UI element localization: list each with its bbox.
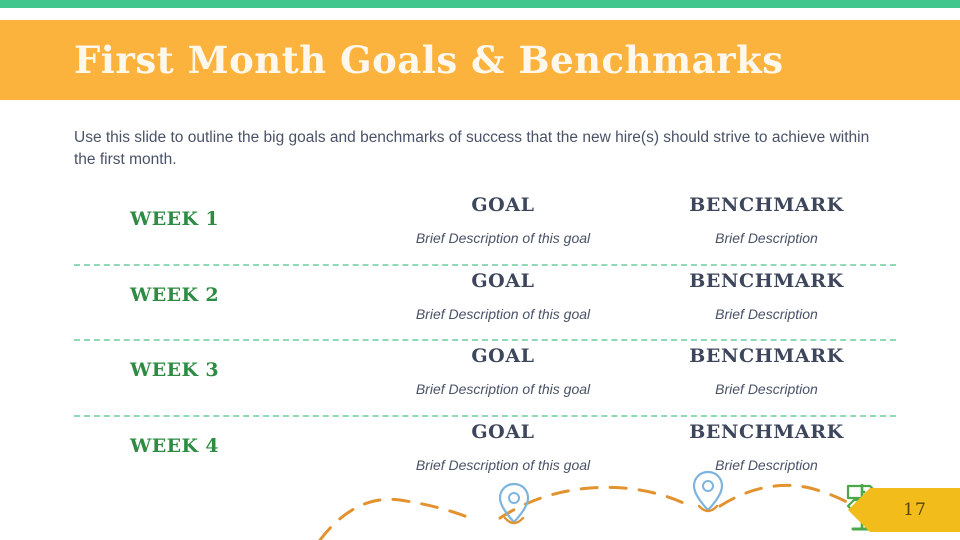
slide-subtitle: Use this slide to outline the big goals … [74, 127, 886, 172]
goal-heading: GOAL [369, 270, 637, 292]
benchmark-heading: BENCHMARK [637, 194, 896, 216]
week-cell: WEEK 2 [74, 266, 369, 306]
goal-cell: GOAL Brief Description of this goal [369, 417, 637, 473]
benchmark-description: Brief Description [637, 306, 896, 322]
week-label: WEEK 3 [130, 359, 219, 381]
goal-description: Brief Description of this goal [369, 381, 637, 397]
page-title: First Month Goals & Benchmarks [74, 38, 784, 82]
benchmark-heading: BENCHMARK [637, 270, 896, 292]
goal-description: Brief Description of this goal [369, 230, 637, 246]
table-row: WEEK 4 GOAL Brief Description of this go… [74, 417, 896, 493]
goal-cell: GOAL Brief Description of this goal [369, 341, 637, 397]
benchmark-cell: BENCHMARK Brief Description [637, 190, 896, 246]
top-accent-bar [0, 0, 960, 8]
benchmark-description: Brief Description [637, 230, 896, 246]
dashed-journey-path [320, 485, 860, 540]
benchmark-cell: BENCHMARK Brief Description [637, 341, 896, 397]
benchmark-heading: BENCHMARK [637, 421, 896, 443]
goals-table: WEEK 1 GOAL Brief Description of this go… [74, 190, 896, 492]
benchmark-heading: BENCHMARK [637, 345, 896, 367]
goal-cell: GOAL Brief Description of this goal [369, 266, 637, 322]
page-banner-notch [848, 488, 870, 532]
benchmark-cell: BENCHMARK Brief Description [637, 266, 896, 322]
week-cell: WEEK 4 [74, 417, 369, 457]
goal-heading: GOAL [369, 194, 637, 216]
benchmark-description: Brief Description [637, 457, 896, 473]
week-label: WEEK 2 [130, 284, 219, 306]
week-cell: WEEK 1 [74, 190, 369, 230]
week-label: WEEK 1 [130, 208, 219, 230]
week-label: WEEK 4 [130, 435, 219, 457]
table-row: WEEK 2 GOAL Brief Description of this go… [74, 266, 896, 342]
benchmark-cell: BENCHMARK Brief Description [637, 417, 896, 473]
table-row: WEEK 3 GOAL Brief Description of this go… [74, 341, 896, 417]
goal-description: Brief Description of this goal [369, 457, 637, 473]
benchmark-description: Brief Description [637, 381, 896, 397]
page-banner: 17 [870, 488, 960, 532]
goal-cell: GOAL Brief Description of this goal [369, 190, 637, 246]
goal-heading: GOAL [369, 345, 637, 367]
table-row: WEEK 1 GOAL Brief Description of this go… [74, 190, 896, 266]
goal-heading: GOAL [369, 421, 637, 443]
goal-description: Brief Description of this goal [369, 306, 637, 322]
week-cell: WEEK 3 [74, 341, 369, 381]
page-number: 17 [903, 500, 927, 520]
